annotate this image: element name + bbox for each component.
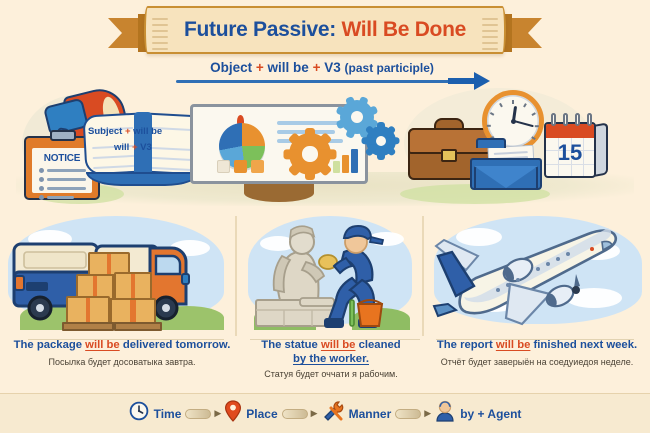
caption-2-en-highlight: will be bbox=[321, 339, 356, 351]
arrow-connector-icon-2: ▶ bbox=[282, 408, 318, 419]
caption-2-english: The statue will be cleaned bbox=[240, 338, 422, 352]
clock-icon bbox=[129, 401, 149, 426]
banner-texture-right bbox=[482, 14, 498, 46]
top-illustration-band: NOTICE bbox=[0, 88, 650, 210]
statue-cleaning-scene bbox=[240, 212, 420, 338]
book-text-line-1: Subject + will be bbox=[88, 126, 162, 137]
board-bar-1 bbox=[333, 161, 340, 173]
page-title: Future Passive: Will Be Done bbox=[184, 18, 466, 42]
strip-label-manner: Manner bbox=[349, 407, 392, 421]
airplane-icon bbox=[426, 212, 650, 338]
book-word-v3: V3 bbox=[140, 142, 152, 153]
strip-item-place[interactable]: Place bbox=[225, 400, 277, 427]
book-text-line-2: will + V3 bbox=[114, 142, 152, 153]
caption-1-en-before: The package bbox=[14, 339, 86, 351]
caption-2-en-before: The statue bbox=[261, 339, 321, 351]
calendar-ring-1 bbox=[551, 113, 556, 126]
envelope-body bbox=[474, 166, 538, 190]
briefcase-lock bbox=[441, 149, 457, 162]
clipboard-rows bbox=[39, 168, 86, 204]
title-banner: Future Passive: Will Be Done bbox=[108, 4, 542, 56]
envelope-icon bbox=[470, 146, 542, 190]
box-mid-right bbox=[114, 272, 152, 300]
location-pin-icon bbox=[225, 400, 241, 427]
caption-1: The package will be delivered tomorrow. … bbox=[8, 338, 236, 367]
scene-divider-2 bbox=[422, 216, 424, 336]
calendar-day-number: 15 bbox=[546, 140, 594, 166]
caption-3-en-after: finished next week. bbox=[530, 339, 637, 351]
box-bottom-right bbox=[110, 298, 156, 324]
book-base bbox=[86, 172, 200, 186]
arrow-connector-icon-3: ▶ bbox=[395, 408, 431, 419]
board-text-line-1 bbox=[277, 121, 343, 125]
delivery-van-scene bbox=[0, 212, 232, 338]
formula-word-willbe: will be bbox=[268, 60, 309, 75]
calendar-ring-2 bbox=[563, 113, 568, 126]
gear-icon-blue-2 bbox=[366, 126, 396, 156]
formula-word-object: Object bbox=[210, 60, 252, 75]
strip-label-agent: by + Agent bbox=[460, 407, 521, 421]
clock-center-pin bbox=[511, 119, 516, 124]
caption-1-en-highlight: will be bbox=[85, 339, 120, 351]
box-bottom-left bbox=[66, 296, 110, 324]
book-word-willbe: will be bbox=[133, 126, 162, 137]
infographic-page: Future Passive: Will Be Done Object + wi… bbox=[0, 0, 650, 433]
caption-3-en-highlight: will be bbox=[496, 339, 531, 351]
caption-2-english-line2: by the worker. bbox=[240, 352, 422, 366]
clock-minute-hand bbox=[513, 120, 534, 128]
formula-line: Object + will be + V3 (past participle) bbox=[172, 60, 472, 75]
banner-body: Future Passive: Will Be Done bbox=[144, 6, 506, 54]
clipboard-paper: NOTICE bbox=[32, 148, 92, 193]
whiteboard-stand bbox=[244, 184, 314, 202]
strip-item-time[interactable]: Time bbox=[129, 401, 182, 426]
caption-1-english: The package will be delivered tomorrow. bbox=[8, 338, 236, 352]
strip-item-manner[interactable]: Manner bbox=[322, 400, 392, 427]
calendar-front-page: 15 bbox=[544, 122, 596, 178]
caption-3-english: The report will be finished next week. bbox=[424, 338, 650, 352]
clipboard-title: NOTICE bbox=[32, 153, 92, 164]
book-plus-left: + bbox=[125, 126, 131, 137]
caption-1-russian: Посылка будет досоватыка завтра. bbox=[8, 357, 236, 367]
caption-2-en-after: cleaned bbox=[355, 339, 400, 351]
strip-label-place: Place bbox=[246, 407, 277, 421]
strip-label-time: Time bbox=[154, 407, 182, 421]
caption-row: The package will be delivered tomorrow. … bbox=[0, 338, 650, 390]
arrow-connector-icon: ▶ bbox=[185, 408, 221, 419]
board-bar-3 bbox=[351, 149, 358, 173]
caption-3-en-before: The report bbox=[437, 339, 496, 351]
calendar-ring-3 bbox=[575, 113, 580, 126]
title-primary: Future Passive: bbox=[184, 18, 341, 41]
caption-2: The statue will be cleaned by the worker… bbox=[240, 338, 422, 379]
scene-divider-1 bbox=[235, 216, 237, 336]
tools-icon bbox=[322, 400, 344, 427]
calendar-ring-4 bbox=[587, 113, 592, 126]
gear-teeth-blue-2 bbox=[366, 126, 396, 156]
pallet-left bbox=[62, 322, 114, 331]
book-plus-right: + bbox=[132, 142, 138, 153]
worker-cleaning-statue-icon bbox=[240, 212, 420, 338]
board-swatch-1 bbox=[217, 160, 230, 173]
calendar-icon: 15 bbox=[544, 118, 610, 180]
whiteboard-icon bbox=[190, 104, 368, 184]
banner-texture-left bbox=[152, 14, 168, 46]
book-word-will: will bbox=[114, 142, 129, 153]
formula-note: (past participle) bbox=[345, 61, 434, 75]
board-bar-2 bbox=[342, 155, 349, 173]
formula-plus-1: + bbox=[256, 60, 264, 75]
adverbial-order-strip: Time ▶ Place ▶ bbox=[0, 393, 650, 433]
caption-2-russian: Статуя будет оччати я рабочим. bbox=[240, 369, 422, 379]
formula-underline bbox=[176, 80, 466, 83]
title-accent: Will Be Done bbox=[341, 18, 466, 41]
caption-1-en-after: delivered tomorrow. bbox=[120, 339, 231, 351]
board-swatch-2 bbox=[234, 160, 247, 173]
gear-teeth-orange bbox=[289, 133, 331, 175]
formula-plus-2: + bbox=[313, 60, 321, 75]
book-word-subject: Subject bbox=[88, 126, 122, 137]
caption-3: The report will be finished next week. О… bbox=[424, 338, 650, 367]
scene-panels bbox=[0, 212, 650, 342]
folder-tab bbox=[476, 138, 506, 148]
board-swatch-3 bbox=[251, 160, 264, 173]
open-book-icon: Subject + will be will + V3 bbox=[84, 110, 202, 186]
formula-word-v3: V3 bbox=[324, 60, 341, 75]
calendar-header bbox=[546, 124, 594, 138]
gear-icon bbox=[289, 133, 331, 175]
person-icon bbox=[435, 400, 455, 427]
strip-item-agent[interactable]: by + Agent bbox=[435, 400, 521, 427]
airplane-scene bbox=[426, 212, 650, 338]
pallet-right bbox=[114, 322, 162, 331]
caption-3-russian: Отчёт будет заверыён на соедуиедоя недел… bbox=[424, 357, 650, 367]
clipboard-clamp bbox=[50, 130, 76, 141]
